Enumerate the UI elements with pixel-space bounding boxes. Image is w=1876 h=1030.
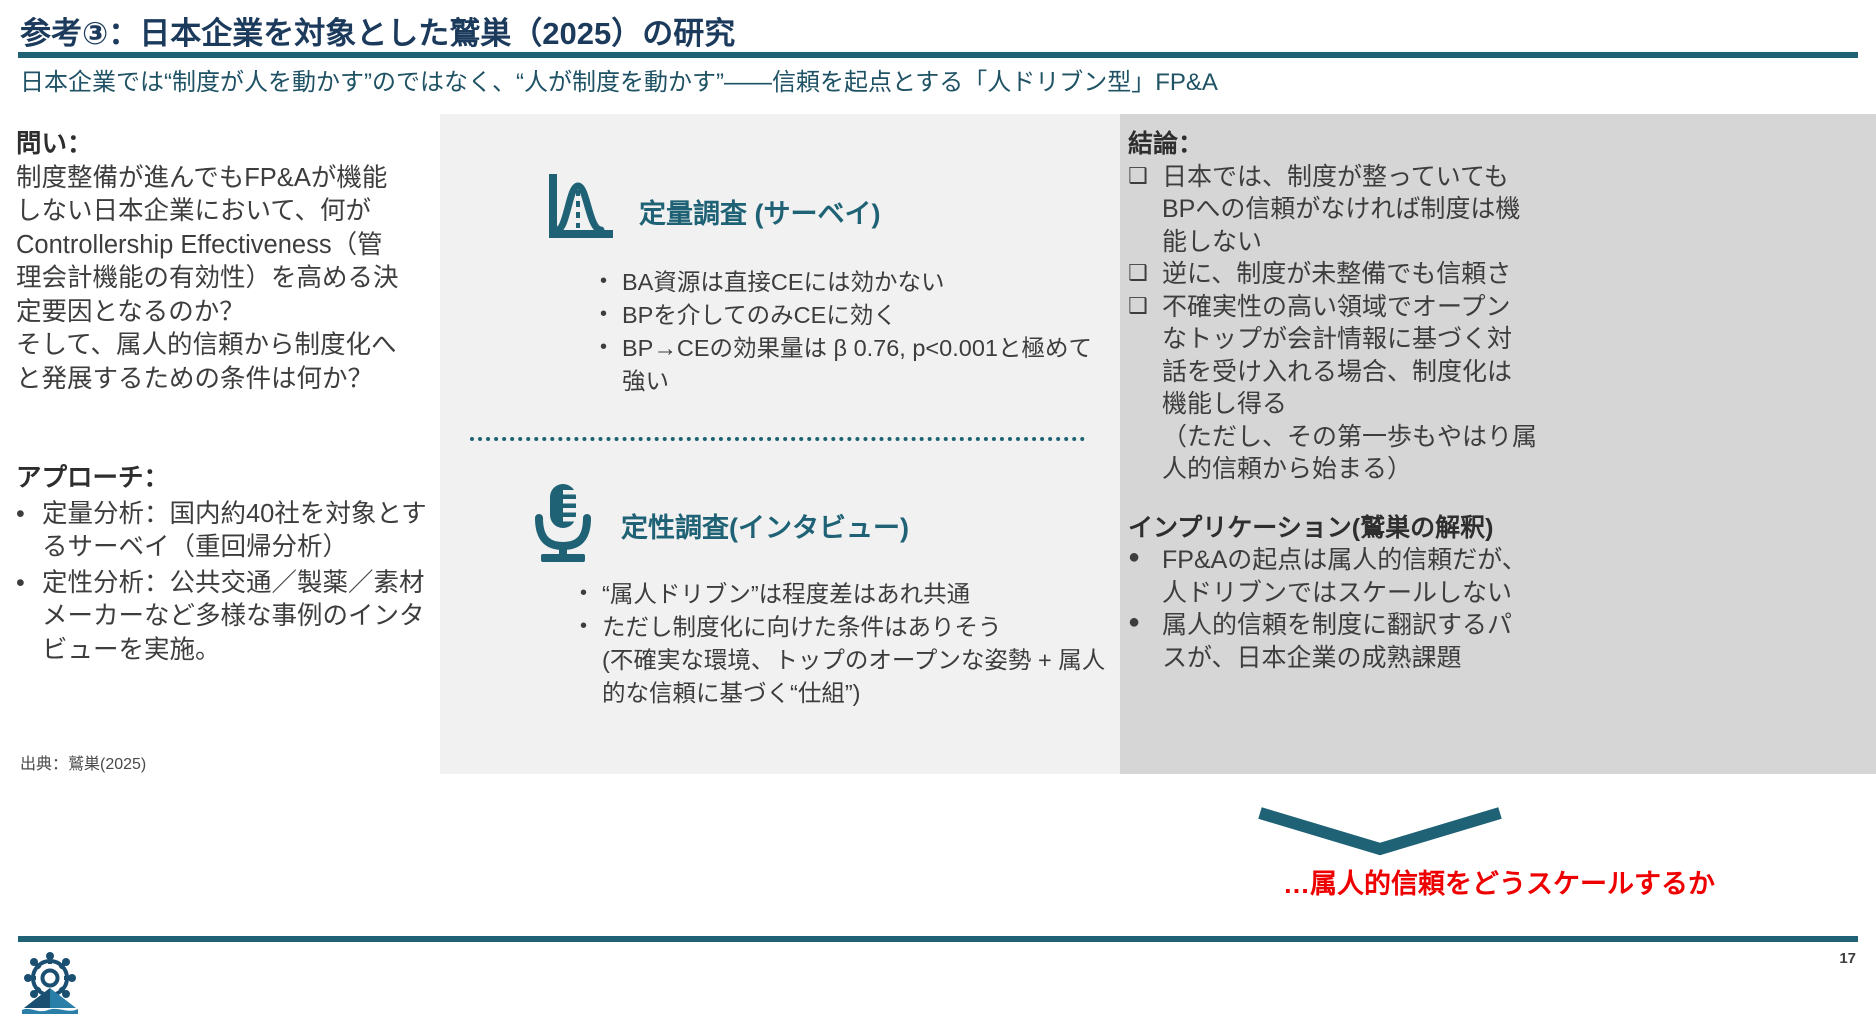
header-divider bbox=[18, 52, 1858, 58]
bullet-line: FP&Aの起点は属人的信頼だが、 bbox=[1162, 544, 1870, 577]
qualitative-bullets: • “属人ドリブン”は程度差はあれ共通 • ただし制度化に向けた条件はありそう … bbox=[580, 578, 1120, 710]
bullet-marker: • bbox=[600, 266, 622, 297]
square-bullet-marker: ❑ bbox=[1128, 161, 1162, 190]
bullet-text: 逆に、制度が未整備でも信頼さ bbox=[1162, 258, 1870, 291]
bullet-line: 能しない bbox=[1162, 226, 1870, 259]
microphone-icon bbox=[525, 480, 599, 571]
bullet-text: 属人的信頼を制度に翻訳するパ スが、日本企業の成熟課題 bbox=[1162, 609, 1870, 674]
page-number: 17 bbox=[1839, 950, 1856, 967]
bullet-line: 属人的信頼を制度に翻訳するパ bbox=[1162, 609, 1870, 642]
slide: 参考③：日本企業を対象とした鷲巣（2025）の研究 日本企業では“制度が人を動か… bbox=[0, 0, 1876, 1030]
disc-bullet-marker: ● bbox=[1128, 544, 1162, 571]
ships-wheel-logo bbox=[18, 952, 82, 1016]
implication-block: インプリケーション(鷲巣の解釈) ● FP&Aの起点は属人的信頼だが、 人ドリブ… bbox=[1128, 512, 1870, 675]
bullet-subtext: (不確実な環境、トップのオープンな姿勢 + 属人的な信頼に基づく“仕組”) bbox=[602, 644, 1120, 710]
bullet-text: “属人ドリブン”は程度差はあれ共通 bbox=[602, 578, 1120, 611]
question-line: しない日本企業において、何が bbox=[16, 195, 440, 229]
qualitative-section-header: 定性調査(インタビュー) bbox=[525, 480, 1125, 571]
list-item: • 定性分析：公共交通／製薬／素材メーカーなど多様な事例のインタビューを実施。 bbox=[16, 567, 440, 668]
bullet-line: 人ドリブンではスケールしない bbox=[1162, 577, 1870, 610]
bullet-marker: • bbox=[16, 567, 42, 600]
quantitative-section-header: 定量調査 (サーベイ) bbox=[545, 172, 1125, 251]
list-item: • ただし制度化に向けた条件はありそう (不確実な環境、トップのオープンな姿勢 … bbox=[580, 611, 1120, 710]
bullet-text: 定性分析：公共交通／製薬／素材メーカーなど多様な事例のインタビューを実施。 bbox=[42, 567, 440, 668]
square-bullet-marker: ❑ bbox=[1128, 291, 1162, 320]
section-divider bbox=[470, 437, 1085, 441]
bullet-marker: • bbox=[16, 498, 42, 531]
conclusion-label: 結論： bbox=[1128, 128, 1870, 161]
list-item: • BA資源は直接CEには効かない bbox=[600, 266, 1110, 299]
bullet-text: BA資源は直接CEには効かない bbox=[622, 266, 1110, 299]
footer-divider bbox=[18, 936, 1858, 942]
bullet-line: 日本では、制度が整っていても bbox=[1162, 161, 1870, 194]
bullet-line: なトップが会計情報に基づく対 bbox=[1162, 323, 1870, 356]
list-item: ❑ 不確実性の高い領域でオープン なトップが会計情報に基づく対 話を受け入れる場… bbox=[1128, 291, 1870, 486]
bullet-text-main: ただし制度化に向けた条件はありそう bbox=[602, 614, 1002, 640]
bullet-line: BPへの信頼がなければ制度は機 bbox=[1162, 193, 1870, 226]
question-line: と発展するための条件は何か？ bbox=[16, 363, 440, 397]
closing-statement: …属人的信頼をどうスケールするか bbox=[1128, 862, 1870, 901]
bullet-line: （ただし、その第一歩もやはり属 bbox=[1162, 421, 1870, 454]
question-line: Controllership Effectiveness（管 bbox=[16, 229, 440, 263]
bullet-marker: • bbox=[580, 578, 602, 609]
bullet-text: BPを介してのみCEに効く bbox=[622, 299, 1110, 332]
list-item: ● 属人的信頼を制度に翻訳するパ スが、日本企業の成熟課題 bbox=[1128, 609, 1870, 674]
list-item: • 定量分析：国内約40社を対象とするサーベイ（重回帰分析） bbox=[16, 498, 440, 565]
section-title: 定量調査 (サーベイ) bbox=[639, 192, 880, 231]
bell-curve-chart-icon bbox=[545, 172, 617, 251]
source-note: 出典：鷲巣(2025) bbox=[20, 750, 146, 774]
bullet-text: 不確実性の高い領域でオープン なトップが会計情報に基づく対 話を受け入れる場合、… bbox=[1162, 291, 1870, 486]
page-title: 参考③：日本企業を対象とした鷲巣（2025）の研究 bbox=[20, 8, 1320, 53]
quantitative-bullets: • BA資源は直接CEには効かない • BPを介してのみCEに効く • BP→C… bbox=[600, 266, 1110, 398]
list-item: • BPを介してのみCEに効く bbox=[600, 299, 1110, 332]
list-item: • BP→CEの効果量は β 0.76, p<0.001と極めて強い bbox=[600, 332, 1110, 398]
question-line: 制度整備が進んでもFP&Aが機能 bbox=[16, 162, 440, 196]
disc-bullet-marker: ● bbox=[1128, 609, 1162, 636]
chevron-down-icon bbox=[1250, 805, 1510, 857]
bullet-marker: • bbox=[600, 299, 622, 330]
bullet-line: 逆に、制度が未整備でも信頼さ bbox=[1162, 258, 1870, 291]
section-title: 定性調査(インタビュー) bbox=[621, 506, 909, 545]
list-item: ❑ 逆に、制度が未整備でも信頼さ bbox=[1128, 258, 1870, 291]
implication-label: インプリケーション(鷲巣の解釈) bbox=[1128, 512, 1870, 545]
list-item: • “属人ドリブン”は程度差はあれ共通 bbox=[580, 578, 1120, 611]
bullet-text: 定量分析：国内約40社を対象とするサーベイ（重回帰分析） bbox=[42, 498, 440, 565]
bullet-line: 不確実性の高い領域でオープン bbox=[1162, 291, 1870, 324]
question-block: 問い： 制度整備が進んでもFP&Aが機能 しない日本企業において、何が Cont… bbox=[16, 128, 440, 396]
list-item: ● FP&Aの起点は属人的信頼だが、 人ドリブンではスケールしない bbox=[1128, 544, 1870, 609]
bullet-text: BP→CEの効果量は β 0.76, p<0.001と極めて強い bbox=[622, 332, 1110, 398]
conclusion-block: 結論： ❑ 日本では、制度が整っていても BPへの信頼がなければ制度は機 能しな… bbox=[1128, 128, 1870, 674]
question-line: 定要因となるのか？ bbox=[16, 296, 440, 330]
approach-block: アプローチ： • 定量分析：国内約40社を対象とするサーベイ（重回帰分析） • … bbox=[16, 462, 440, 667]
question-line: 理会計機能の有効性）を高める決 bbox=[16, 262, 440, 296]
bullet-marker: • bbox=[600, 332, 622, 363]
question-label: 問い： bbox=[16, 128, 440, 162]
approach-label: アプローチ： bbox=[16, 462, 440, 496]
question-line: そして、属人的信頼から制度化へ bbox=[16, 329, 440, 363]
bullet-line: 機能し得る bbox=[1162, 388, 1870, 421]
bullet-text: FP&Aの起点は属人的信頼だが、 人ドリブンではスケールしない bbox=[1162, 544, 1870, 609]
page-subtitle: 日本企業では“制度が人を動かす”のではなく、“人が制度を動かす”――信頼を起点と… bbox=[20, 62, 1580, 97]
bullet-line: 話を受け入れる場合、制度化は bbox=[1162, 356, 1870, 389]
square-bullet-marker: ❑ bbox=[1128, 258, 1162, 287]
bullet-marker: • bbox=[580, 611, 602, 642]
bullet-line: スが、日本企業の成熟課題 bbox=[1162, 642, 1870, 675]
list-item: ❑ 日本では、制度が整っていても BPへの信頼がなければ制度は機 能しない bbox=[1128, 161, 1870, 259]
bullet-text: ただし制度化に向けた条件はありそう (不確実な環境、トップのオープンな姿勢 + … bbox=[602, 611, 1120, 710]
bullet-line: 人的信頼から始まる） bbox=[1162, 453, 1870, 486]
bullet-text: 日本では、制度が整っていても BPへの信頼がなければ制度は機 能しない bbox=[1162, 161, 1870, 259]
